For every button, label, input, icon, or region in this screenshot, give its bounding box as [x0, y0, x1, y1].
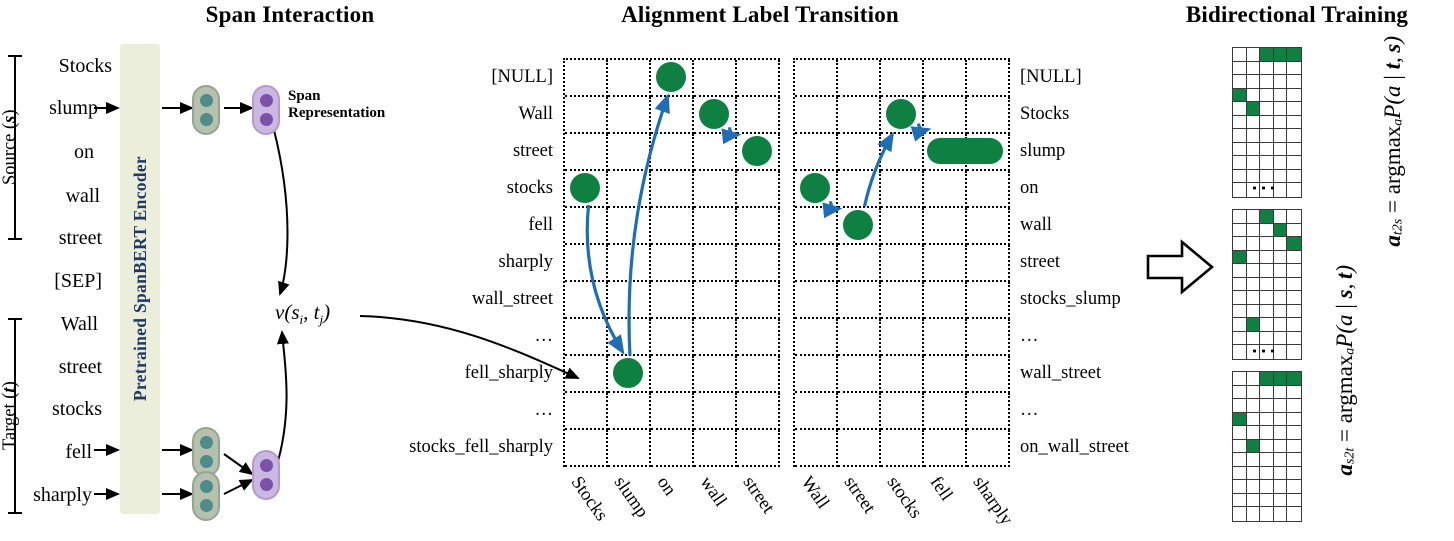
matrix-cell[interactable] — [1274, 116, 1288, 130]
formula-s2t-argsub: a — [1343, 348, 1358, 355]
matrix-cell[interactable] — [1260, 507, 1274, 521]
matrix-cell[interactable] — [1247, 318, 1261, 332]
matrix-cell[interactable] — [1274, 467, 1288, 481]
matrix-cell[interactable] — [1287, 332, 1301, 346]
formula-s2t-c1: s — [1332, 289, 1357, 298]
matrix-cell[interactable] — [1247, 480, 1261, 494]
grid-row-label: fell — [0, 216, 553, 235]
matrix-cell[interactable] — [1247, 89, 1261, 103]
formula-s2t-bar: | — [1332, 298, 1357, 314]
alignment-grid-t2s-transitions — [563, 58, 783, 468]
matrix-cell[interactable] — [1247, 237, 1261, 251]
grid-row-label: wall_street — [1020, 364, 1101, 383]
matrix-cell[interactable] — [1287, 399, 1301, 413]
matrix-cell[interactable] — [1274, 224, 1288, 238]
matrix-cell[interactable] — [1274, 210, 1288, 224]
grid-row-label: wall — [1020, 216, 1052, 235]
matrix-cell[interactable] — [1287, 156, 1301, 170]
formula-s2t-prob: P( — [1332, 326, 1357, 348]
matrix-cell[interactable] — [1233, 291, 1247, 305]
matrix-cell[interactable] — [1260, 251, 1274, 265]
transition-arrow — [918, 124, 928, 130]
matrix-cell[interactable] — [1247, 102, 1261, 116]
matrix-cell[interactable] — [1233, 129, 1247, 143]
span-representation-capsule — [252, 450, 280, 500]
matrix-cell[interactable] — [1233, 224, 1247, 238]
matrix-2[interactable] — [1232, 209, 1302, 360]
right-arrow-icon — [1146, 236, 1216, 298]
matrix-cell[interactable] — [1247, 440, 1261, 454]
matrix-cell[interactable] — [1260, 467, 1274, 481]
matrix-cell[interactable] — [1260, 318, 1274, 332]
matrix-cell[interactable] — [1287, 89, 1301, 103]
matrix-cell[interactable] — [1287, 102, 1301, 116]
matrix-cell[interactable] — [1287, 48, 1301, 62]
matrix-cell[interactable] — [1287, 251, 1301, 265]
matrix-cell[interactable] — [1247, 305, 1261, 319]
matrix-cell[interactable] — [1247, 386, 1261, 400]
target-token-4: sharply — [33, 485, 92, 505]
matrix-cell[interactable] — [1247, 278, 1261, 292]
matrix-cell[interactable] — [1260, 386, 1274, 400]
grid-row-label: on — [1020, 179, 1039, 198]
matrix-cell[interactable] — [1260, 210, 1274, 224]
grid-row-label: wall_street — [0, 290, 553, 309]
matrix-cell[interactable] — [1233, 48, 1247, 62]
grid-row-label: slump — [1020, 142, 1065, 161]
token-representation-capsule — [192, 471, 220, 521]
matrix-cell[interactable] — [1274, 143, 1288, 157]
grid-col-label: stocks — [881, 473, 925, 523]
matrix-cell[interactable] — [1233, 507, 1247, 521]
matrix-cell[interactable] — [1287, 345, 1301, 359]
matrix-cell[interactable] — [1247, 494, 1261, 508]
matrix-cell[interactable] — [1233, 453, 1247, 467]
matrix-cell[interactable] — [1287, 116, 1301, 130]
matrix-cell[interactable] — [1274, 251, 1288, 265]
token-vector-dot — [200, 480, 213, 493]
matrix-cell[interactable] — [1247, 116, 1261, 130]
matrix-cell[interactable] — [1233, 264, 1247, 278]
matrix-cell[interactable] — [1260, 494, 1274, 508]
grid-row-label: … — [1020, 327, 1039, 346]
grid-row-label: Wall — [0, 105, 553, 124]
matrix-cell[interactable] — [1274, 129, 1288, 143]
matrix-3[interactable] — [1232, 371, 1302, 522]
matrix-cell[interactable] — [1287, 453, 1301, 467]
formula-t2s-var: a — [1380, 235, 1405, 247]
matrix-cell[interactable] — [1287, 237, 1301, 251]
matrix-cell[interactable] — [1287, 426, 1301, 440]
matrix-cell[interactable] — [1247, 224, 1261, 238]
matrix-cell[interactable] — [1233, 278, 1247, 292]
title-span-interaction: Span Interaction — [130, 2, 450, 28]
matrix-cell[interactable] — [1260, 264, 1274, 278]
matrix-cell[interactable] — [1274, 399, 1288, 413]
matrix-cell[interactable] — [1274, 291, 1288, 305]
token-vector-dot — [200, 455, 213, 468]
matrix-cell[interactable] — [1233, 386, 1247, 400]
matrix-cell[interactable] — [1247, 399, 1261, 413]
matrix-cell[interactable] — [1287, 183, 1301, 197]
title-bidirectional-training: Bidirectional Training — [1140, 2, 1454, 28]
grid-col-label: sharply — [967, 473, 1015, 530]
matrix-cell[interactable] — [1260, 413, 1274, 427]
grid-col-label: wall — [694, 473, 729, 511]
title-alignment-label-transition: Alignment Label Transition — [540, 2, 980, 28]
matrix-cell[interactable] — [1260, 156, 1274, 170]
transition-arrow — [865, 134, 893, 206]
matrix-cell[interactable] — [1274, 62, 1288, 76]
grid-col-label: Stocks — [565, 473, 611, 525]
matrix-cell[interactable] — [1260, 224, 1274, 238]
formula-t2s-a: a — [1380, 85, 1405, 97]
matrix-cell[interactable] — [1247, 251, 1261, 265]
grid-row-label: stocks — [0, 179, 553, 198]
formula-t2s-c2: s — [1380, 44, 1405, 53]
formula-s2t-a: a — [1332, 314, 1357, 326]
matrix-cell[interactable] — [1274, 102, 1288, 116]
matrix-cell[interactable] — [1274, 237, 1288, 251]
matrix-cell[interactable] — [1287, 62, 1301, 76]
formula-s2t-sub: s2t — [1343, 448, 1358, 464]
matrix-cell[interactable] — [1287, 210, 1301, 224]
grid-col-label: fell — [924, 473, 955, 505]
span-vector-dot — [260, 478, 273, 491]
matrix-cell[interactable] — [1287, 143, 1301, 157]
matrix-cell[interactable] — [1233, 210, 1247, 224]
grid-row-label: fell_sharply — [0, 364, 553, 383]
formula-t2s-eq: = argmax — [1380, 126, 1405, 219]
formula-s2t-c2: t — [1332, 273, 1357, 279]
matrix-cell[interactable] — [1287, 305, 1301, 319]
matrix-cell[interactable] — [1287, 170, 1301, 184]
matrix-cell[interactable] — [1233, 183, 1247, 197]
alignment-grid-s2t-transitions — [793, 58, 993, 468]
matrix-cell[interactable] — [1233, 399, 1247, 413]
grid-col-label: street — [737, 473, 777, 518]
formula-t2s-close: ) — [1380, 36, 1405, 44]
matrix-cell[interactable] — [1247, 210, 1261, 224]
matrix-cell[interactable] — [1274, 413, 1288, 427]
matrix-cell[interactable] — [1247, 129, 1261, 143]
matrix-cell[interactable] — [1260, 48, 1274, 62]
grid-row-label: Stocks — [1020, 105, 1069, 124]
matrix-cell[interactable] — [1260, 102, 1274, 116]
matrix-cell[interactable] — [1274, 75, 1288, 89]
matrix-cell[interactable] — [1274, 507, 1288, 521]
matrix-cell[interactable] — [1260, 440, 1274, 454]
matrix-cell[interactable] — [1274, 440, 1288, 454]
matrix-cell[interactable] — [1260, 453, 1274, 467]
matrix-cell[interactable] — [1233, 426, 1247, 440]
matrix-cell[interactable] — [1287, 278, 1301, 292]
matrix-cell[interactable] — [1233, 467, 1247, 481]
matrix-cell[interactable] — [1233, 305, 1247, 319]
matrix-cell[interactable] — [1247, 156, 1261, 170]
formula-s2t-eq: = argmax — [1332, 355, 1357, 448]
transition-arrow — [587, 205, 623, 352]
matrix-cell[interactable] — [1233, 480, 1247, 494]
matrix-cell[interactable] — [1233, 372, 1247, 386]
grid-col-label: street — [838, 473, 878, 518]
matrix-cell[interactable] — [1287, 372, 1301, 386]
matrix-cell[interactable] — [1287, 75, 1301, 89]
matrix-cell[interactable] — [1274, 264, 1288, 278]
grid-row-label: … — [1020, 401, 1039, 420]
matrix-cell[interactable] — [1247, 507, 1261, 521]
span-vector-dot — [260, 459, 273, 472]
matrix-cell[interactable] — [1260, 305, 1274, 319]
matrix-cell[interactable] — [1260, 480, 1274, 494]
matrix-cell[interactable] — [1287, 264, 1301, 278]
matrix-cell[interactable] — [1287, 480, 1301, 494]
formula-t2s-argsub: a — [1391, 119, 1406, 126]
matrix-cell[interactable] — [1287, 224, 1301, 238]
matrix-cell[interactable] — [1287, 440, 1301, 454]
grid-row-label: street — [0, 142, 553, 161]
matrix-cell[interactable] — [1247, 372, 1261, 386]
matrix-cell[interactable] — [1233, 102, 1247, 116]
matrix-cell[interactable] — [1247, 426, 1261, 440]
matrix-cell[interactable] — [1247, 62, 1261, 76]
matrix-cell[interactable] — [1233, 494, 1247, 508]
matrix-cell[interactable] — [1260, 291, 1274, 305]
formula-s2t-close: ) — [1332, 265, 1357, 273]
matrix-cell[interactable] — [1260, 116, 1274, 130]
matrix-cell[interactable] — [1233, 413, 1247, 427]
matrix-cell[interactable] — [1247, 467, 1261, 481]
matrix-cell[interactable] — [1260, 89, 1274, 103]
matrix-cell[interactable] — [1233, 89, 1247, 103]
matrix-cell[interactable] — [1233, 62, 1247, 76]
matrix-cell[interactable] — [1274, 89, 1288, 103]
matrix-cell[interactable] — [1287, 386, 1301, 400]
matrix-cell[interactable] — [1274, 426, 1288, 440]
matrix-cell[interactable] — [1287, 467, 1301, 481]
matrix-cell[interactable] — [1260, 75, 1274, 89]
matrix-cell[interactable] — [1274, 386, 1288, 400]
grid-row-label: on_wall_street — [1020, 438, 1129, 457]
matrix-ellipsis: ⋮ — [1256, 175, 1272, 201]
matrix-cell[interactable] — [1287, 318, 1301, 332]
formula-t2s-c1: t — [1380, 63, 1405, 69]
matrix-cell[interactable] — [1233, 332, 1247, 346]
transition-arrow — [831, 201, 840, 209]
matrix-cell[interactable] — [1287, 413, 1301, 427]
matrix-cell[interactable] — [1233, 170, 1247, 184]
matrix-cell[interactable] — [1274, 494, 1288, 508]
grid-row-label: … — [0, 327, 553, 346]
grid-col-label: slump — [608, 473, 651, 522]
formula-s2t: as2t = argmaxaP(a | s, t) — [1332, 265, 1359, 476]
grid-row-label: [NULL] — [0, 68, 553, 87]
matrix-cell[interactable] — [1233, 143, 1247, 157]
formula-t2s-bar: | — [1380, 69, 1405, 85]
grid-row-label: stocks_slump — [1020, 290, 1121, 309]
matrix-cell[interactable] — [1274, 480, 1288, 494]
formula-t2s-sub: t2s — [1391, 219, 1406, 235]
matrix-cell[interactable] — [1287, 291, 1301, 305]
formula-t2s-prob: P( — [1380, 97, 1405, 119]
matrix-cell[interactable] — [1247, 453, 1261, 467]
matrix-cell[interactable] — [1260, 278, 1274, 292]
matrix-cell[interactable] — [1287, 129, 1301, 143]
matrix-ellipsis: ⋮ — [1256, 338, 1272, 364]
matrix-cell[interactable] — [1274, 278, 1288, 292]
formula-s2t-var: a — [1332, 464, 1357, 476]
matrix-cell[interactable] — [1247, 48, 1261, 62]
matrix-cell[interactable] — [1233, 345, 1247, 359]
transition-arrow — [730, 127, 739, 135]
matrix-cell[interactable] — [1274, 156, 1288, 170]
grid-row-label: stocks_fell_sharply — [0, 438, 553, 457]
matrix-cell[interactable] — [1233, 116, 1247, 130]
matrix-cell[interactable] — [1233, 440, 1247, 454]
span-representation-label-line1: Span — [288, 88, 385, 105]
matrix-cell[interactable] — [1247, 143, 1261, 157]
grid-row-label: sharply — [0, 253, 553, 272]
matrix-cell[interactable] — [1233, 75, 1247, 89]
matrix-cell[interactable] — [1233, 237, 1247, 251]
matrix-cell[interactable] — [1274, 318, 1288, 332]
matrix-cell[interactable] — [1260, 129, 1274, 143]
matrix-cell[interactable] — [1260, 237, 1274, 251]
matrix-cell[interactable] — [1233, 156, 1247, 170]
matrix-cell[interactable] — [1247, 291, 1261, 305]
matrix-cell[interactable] — [1260, 62, 1274, 76]
matrix-cell[interactable] — [1247, 413, 1261, 427]
token-vector-dot — [200, 499, 213, 512]
matrix-cell[interactable] — [1274, 453, 1288, 467]
matrix-cell[interactable] — [1287, 507, 1301, 521]
matrix-cell[interactable] — [1260, 426, 1274, 440]
matrix-cell[interactable] — [1247, 264, 1261, 278]
matrix-cell[interactable] — [1274, 305, 1288, 319]
matrix-cell[interactable] — [1247, 75, 1261, 89]
transition-arrow — [629, 96, 668, 355]
grid-row-label: … — [0, 401, 553, 420]
matrix-cell[interactable] — [1287, 494, 1301, 508]
matrix-cell[interactable] — [1260, 372, 1274, 386]
matrix-cell[interactable] — [1233, 251, 1247, 265]
matrix-cell[interactable] — [1260, 399, 1274, 413]
matrix-cell[interactable] — [1274, 48, 1288, 62]
grid-col-label: Wall — [795, 473, 832, 513]
grid-row-label: [NULL] — [1020, 68, 1082, 87]
grid-row-label: street — [1020, 253, 1060, 272]
grid-col-label: on — [651, 473, 679, 500]
formula-t2s: at2s = argmaxaP(a | t, s) — [1380, 36, 1407, 247]
matrix-cell[interactable] — [1233, 318, 1247, 332]
matrix-cell[interactable] — [1274, 372, 1288, 386]
matrix-cell[interactable] — [1260, 143, 1274, 157]
